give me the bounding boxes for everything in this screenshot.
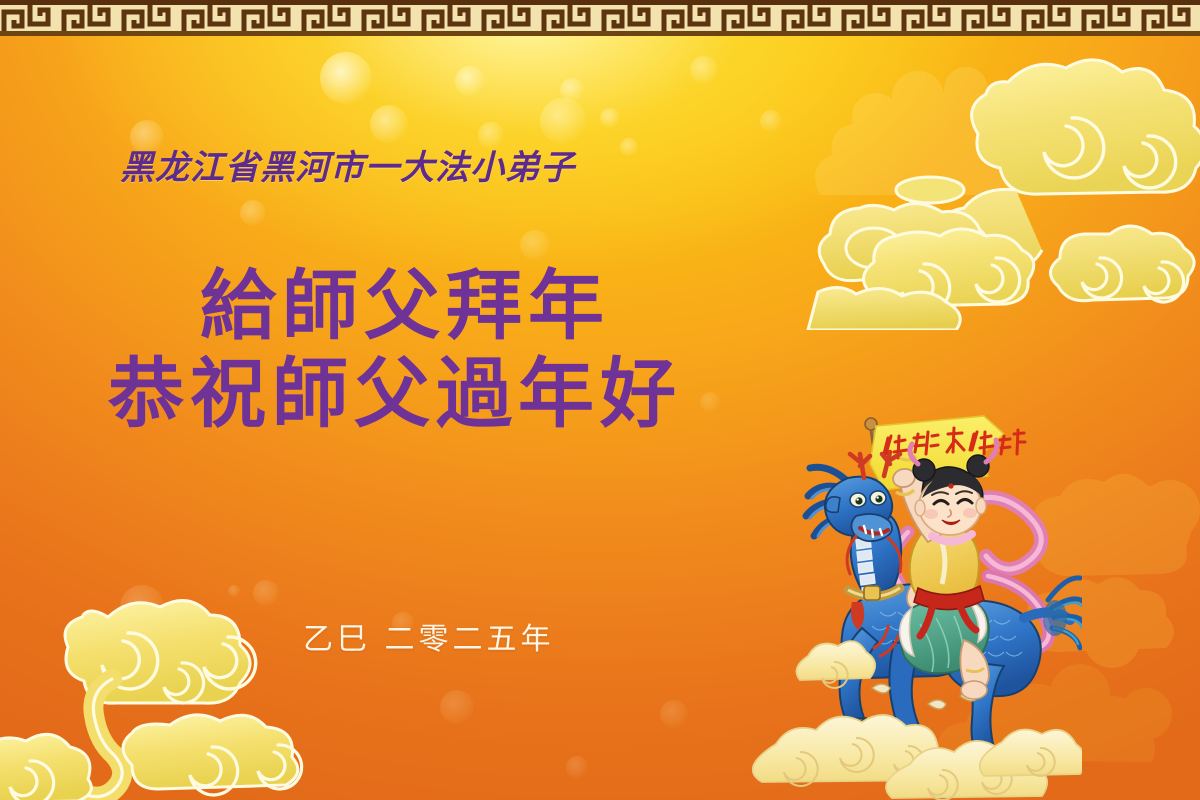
bokeh-light bbox=[540, 98, 586, 144]
bokeh-light bbox=[700, 392, 720, 412]
child-rider bbox=[891, 440, 997, 699]
title-line-1: 給師父拜年 bbox=[200, 262, 682, 350]
bokeh-light bbox=[370, 105, 408, 143]
bokeh-light bbox=[566, 756, 588, 778]
bokeh-light bbox=[560, 78, 584, 102]
bokeh-light bbox=[455, 66, 485, 96]
bokeh-light bbox=[253, 580, 279, 606]
bokeh-light bbox=[320, 52, 372, 104]
bokeh-light bbox=[520, 230, 550, 260]
cloud-topright bbox=[800, 40, 1200, 330]
decorative-top-border bbox=[0, 0, 1200, 36]
illustration-child-riding-dragon bbox=[752, 412, 1082, 800]
bokeh-light bbox=[440, 690, 474, 724]
cloud-bottomleft bbox=[0, 575, 310, 800]
bokeh-light bbox=[660, 700, 688, 728]
auspicious-cloud-icon bbox=[800, 40, 1200, 330]
bokeh-light bbox=[620, 138, 638, 156]
greeting-card: 黑龙江省黑河市一大法小弟子 給師父拜年 恭祝師父過年好 乙巳 二零二五年 bbox=[0, 0, 1200, 800]
bokeh-light bbox=[120, 585, 164, 629]
bokeh-light bbox=[690, 56, 718, 84]
title-line-2: 恭祝師父過年好 bbox=[108, 350, 682, 438]
bokeh-light bbox=[760, 110, 782, 132]
auspicious-cloud-icon bbox=[0, 575, 310, 800]
lunar-date: 乙巳 二零二五年 bbox=[303, 614, 555, 658]
bokeh-light bbox=[228, 585, 240, 597]
child-riding-dragon-icon bbox=[752, 412, 1082, 800]
cloud-ghost-icon bbox=[790, 45, 1090, 245]
greek-key-border-icon bbox=[0, 0, 1200, 36]
sender-line: 黑龙江省黑河市一大法小弟子 bbox=[120, 140, 575, 189]
bokeh-light bbox=[240, 200, 266, 226]
bokeh-light bbox=[600, 108, 620, 128]
cloud-ghost-topright bbox=[790, 45, 1090, 245]
greeting-title: 給師父拜年 恭祝師父過年好 bbox=[108, 262, 682, 438]
